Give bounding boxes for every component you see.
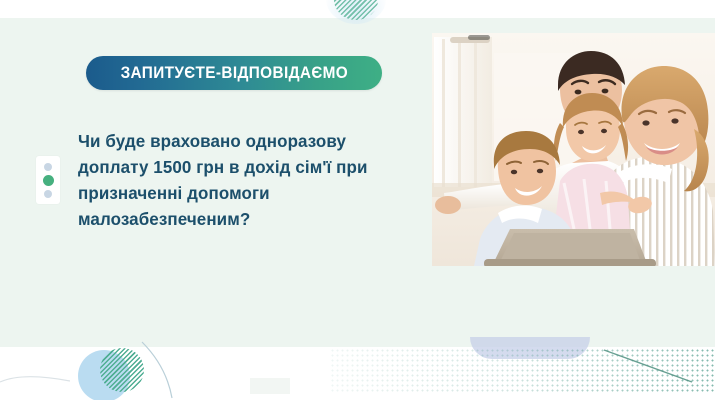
curve-line-decoration	[140, 340, 200, 400]
question-line-1: Чи буде враховано одноразову	[78, 128, 398, 154]
striped-disc-decoration	[100, 348, 144, 392]
step-dot-2-active[interactable]	[43, 175, 54, 186]
family-photo-illustration	[432, 33, 715, 266]
step-dot-3[interactable]	[44, 190, 52, 198]
question-text: Чи буде враховано одноразову доплату 150…	[78, 128, 398, 232]
diagonal-line-decoration	[600, 348, 715, 388]
faint-square-decoration	[250, 378, 290, 394]
question-line-3: призначенні допомоги	[78, 180, 398, 206]
section-badge[interactable]: ЗАПИТУЄТЕ-ВІДПОВІДАЄМО	[86, 56, 382, 90]
section-badge-label: ЗАПИТУЄТЕ-ВІДПОВІДАЄМО	[120, 64, 348, 83]
slide-canvas: ЗАПИТУЄТЕ-ВІДПОВІДАЄМО Чи буде враховано…	[0, 0, 715, 400]
step-dot-1[interactable]	[44, 163, 52, 171]
question-line-4: малозабезпеченим?	[78, 206, 398, 232]
wave-line-decoration	[0, 372, 70, 386]
step-dots-indicator[interactable]	[36, 156, 60, 204]
family-photo	[432, 33, 715, 266]
question-line-2: доплату 1500 грн в дохід сім'ї при	[78, 154, 398, 180]
